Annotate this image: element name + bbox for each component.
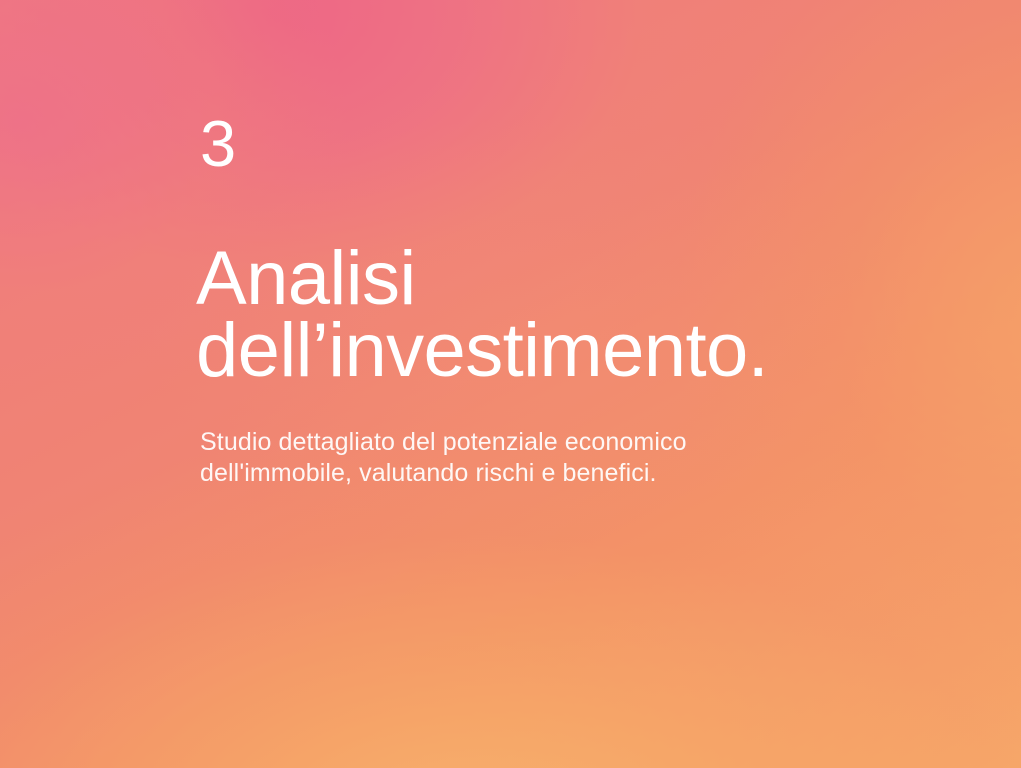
- slide-canvas: 3 Analisi dell’investimento. Studio dett…: [0, 0, 1021, 768]
- section-number: 3: [200, 111, 236, 176]
- slide-content: 3 Analisi dell’investimento. Studio dett…: [200, 0, 960, 768]
- slide-subtitle: Studio dettagliato del potenziale econom…: [200, 427, 687, 489]
- page-title: Analisi dell’investimento.: [196, 243, 768, 387]
